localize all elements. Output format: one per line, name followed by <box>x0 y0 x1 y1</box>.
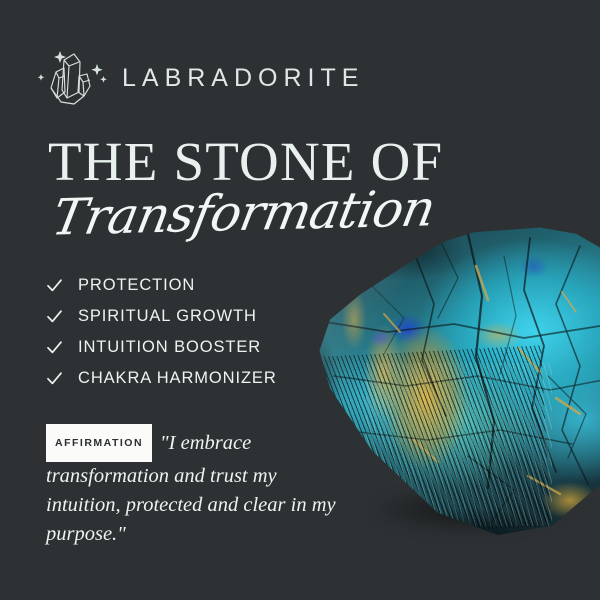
list-item-label: PROTECTION <box>78 276 195 295</box>
poster-canvas: LABRADORITE THE STONE OF Transformation … <box>0 0 600 600</box>
page-title-script: Transformation <box>48 183 438 242</box>
check-icon <box>46 339 63 356</box>
list-item-label: INTUITION BOOSTER <box>78 338 261 357</box>
list-item-label: SPIRITUAL GROWTH <box>78 307 257 326</box>
status-badge: AFFIRMATION <box>46 424 152 462</box>
affirmation-block: AFFIRMATION"I embrace transformation and… <box>46 424 346 549</box>
check-icon <box>46 308 63 325</box>
list-item: PROTECTION <box>46 270 277 301</box>
benefits-list: PROTECTION SPIRITUAL GROWTH INTUITION BO… <box>46 270 277 394</box>
list-item: CHAKRA HARMONIZER <box>46 363 277 394</box>
stone-shadow <box>330 470 600 550</box>
affirmation-text-wrap: AFFIRMATION"I embrace transformation and… <box>46 424 346 549</box>
list-item: INTUITION BOOSTER <box>46 332 277 363</box>
sparkle-star-icon <box>38 51 107 83</box>
crystal-cluster-icon <box>34 46 108 110</box>
list-item: SPIRITUAL GROWTH <box>46 301 277 332</box>
check-icon <box>46 370 63 387</box>
check-icon <box>46 277 63 294</box>
brand-name: LABRADORITE <box>122 64 364 93</box>
brand-lockup: LABRADORITE <box>34 46 364 110</box>
list-item-label: CHAKRA HARMONIZER <box>78 369 277 388</box>
